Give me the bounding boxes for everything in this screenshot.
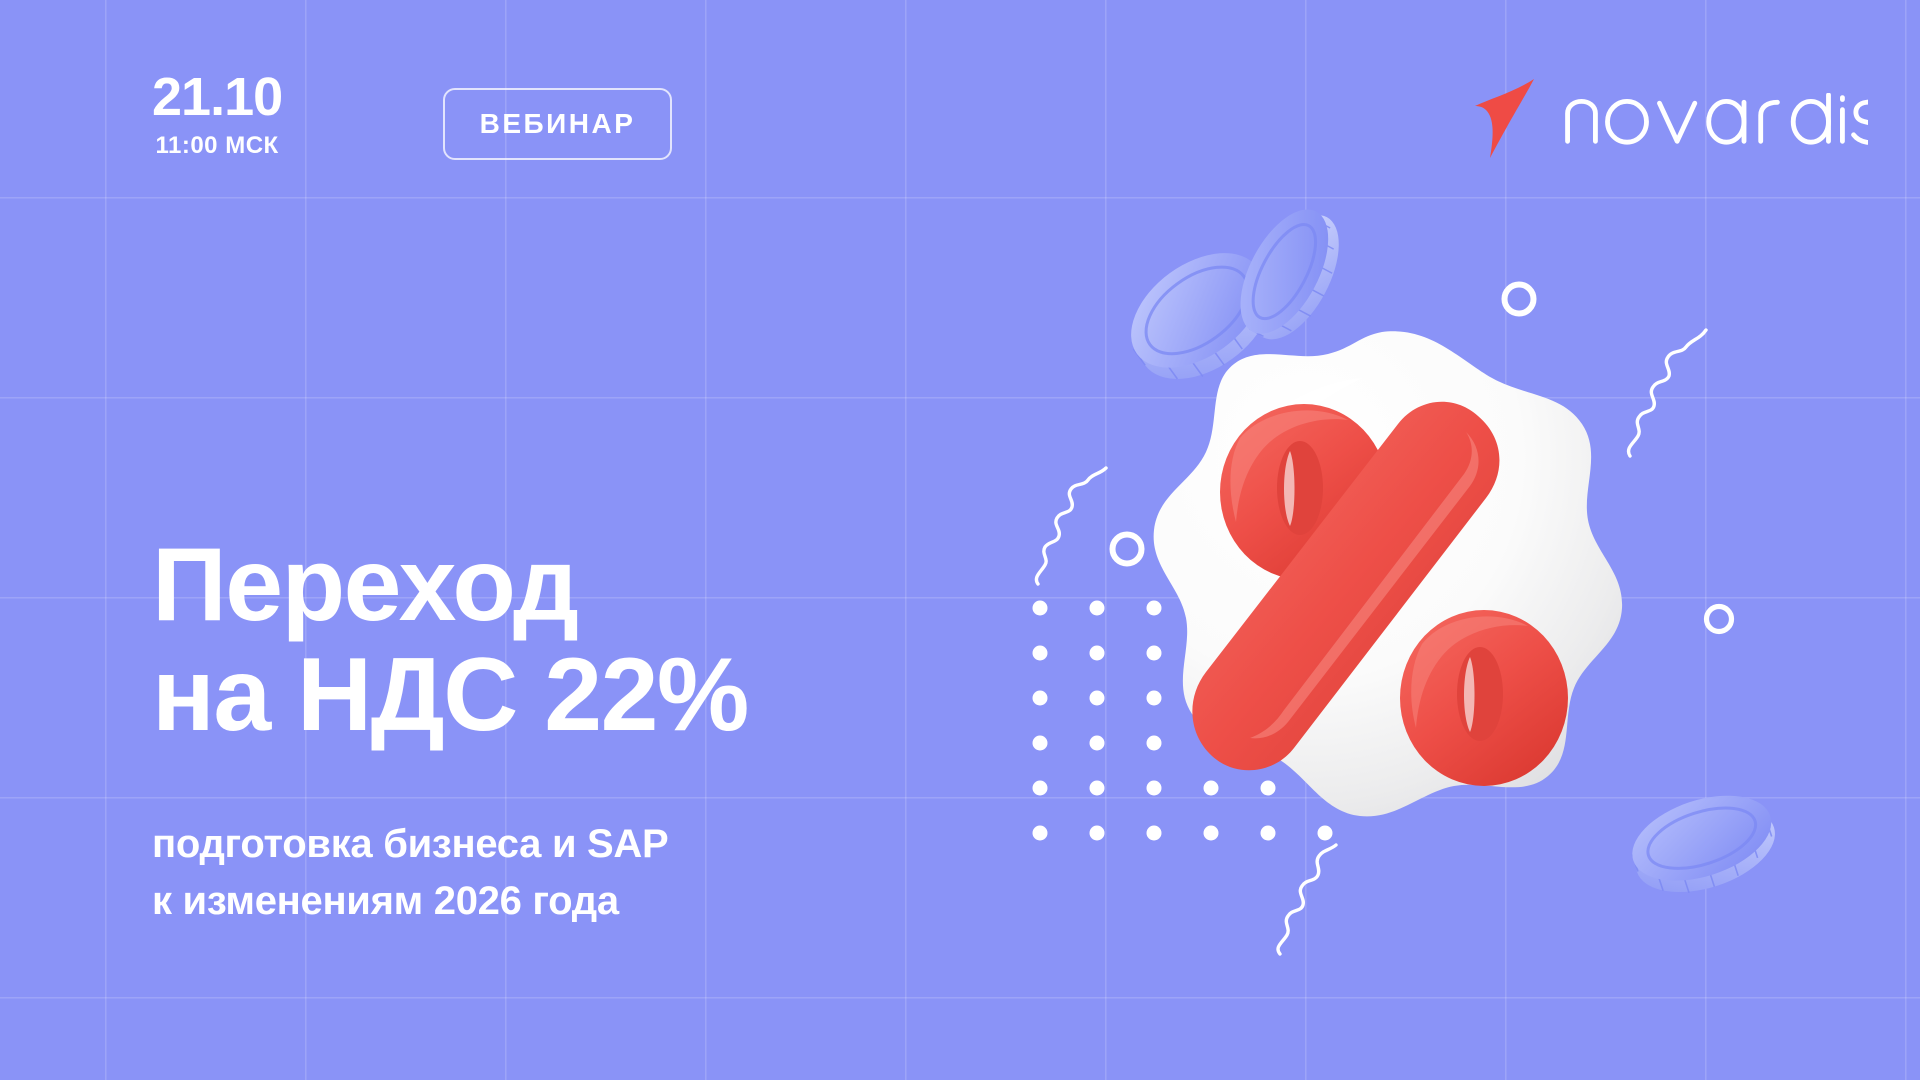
squiggle-line-icon <box>1624 322 1744 462</box>
blue-coin-icon <box>1098 212 1298 412</box>
brand-logo[interactable] <box>1472 78 1868 160</box>
event-time: 11:00 МСК <box>152 132 282 160</box>
webinar-badge: ВЕБИНАР <box>443 88 672 160</box>
headline-line-2: на НДС 22% <box>152 640 748 750</box>
webinar-banner: 21.10 11:00 МСК ВЕБИНАР <box>0 0 1920 1080</box>
subtitle-line-2: к изменениям 2026 года <box>152 873 668 930</box>
white-blob-icon <box>1130 320 1650 880</box>
page-subtitle: подготовка бизнеса и SAP к изменениям 20… <box>152 816 668 930</box>
ring-outline-icon <box>1700 600 1738 638</box>
squiggle-line-icon <box>1268 840 1358 960</box>
event-date: 21.10 <box>152 70 282 125</box>
blue-coin-icon <box>1192 178 1382 368</box>
percent-symbol <box>1192 402 1568 786</box>
novardis-swoosh-icon <box>1472 78 1538 160</box>
page-title: Переход на НДС 22% <box>152 530 748 750</box>
headline-line-1: Переход <box>152 530 748 640</box>
blue-coin-icon <box>1608 762 1798 922</box>
subtitle-line-1: подготовка бизнеса и SAP <box>152 816 668 873</box>
squiggle-line-icon <box>1032 460 1142 590</box>
dot-grid-icon <box>1032 600 1372 880</box>
ring-outline-icon <box>1497 277 1541 321</box>
webinar-badge-label: ВЕБИНАР <box>480 108 636 140</box>
novardis-wordmark <box>1562 93 1868 145</box>
ring-outline-icon <box>1105 527 1149 571</box>
event-date-block: 21.10 11:00 МСК <box>152 70 282 160</box>
